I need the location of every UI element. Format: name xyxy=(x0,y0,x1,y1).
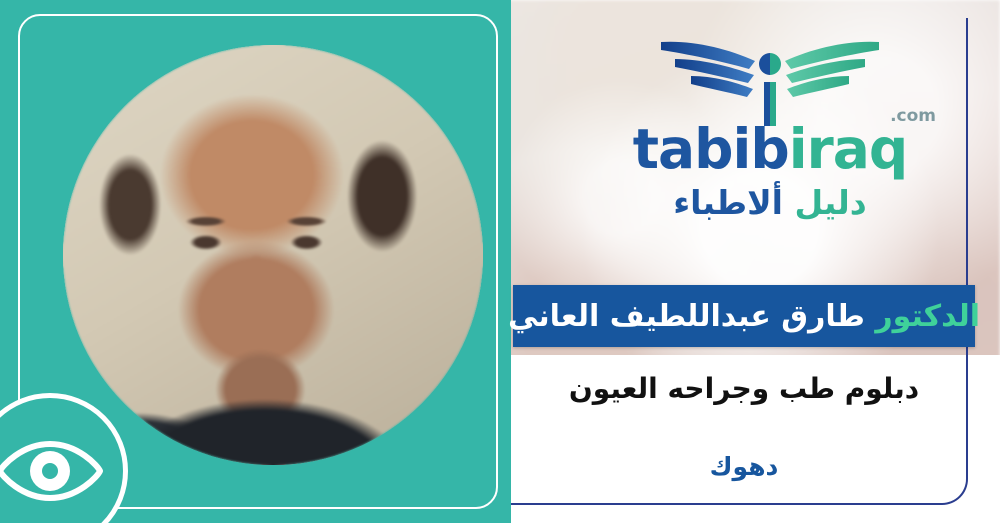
wordmark-iraq: iraq xyxy=(789,117,907,181)
doctor-city: دهوك xyxy=(513,452,975,481)
doctor-name-text: الدكتور طارق عبداللطيف العاني xyxy=(508,299,980,334)
doctor-profile-card: tabibiraq .com دليل ألاطباء الدكتور طارق… xyxy=(0,0,1000,523)
brand-logo: tabibiraq .com دليل ألاطباء xyxy=(600,28,940,222)
doctor-specialty: دبلوم طب وجراحه العيون xyxy=(513,372,975,405)
doctor-name-banner: الدكتور طارق عبداللطيف العاني xyxy=(513,285,975,347)
tagline-blue: ألاطباء xyxy=(673,183,783,222)
winged-caduceus-figure-icon xyxy=(600,28,940,126)
brand-tagline: دليل ألاطباء xyxy=(600,183,940,222)
doctor-photo xyxy=(63,45,483,465)
brand-wordmark: tabibiraq .com xyxy=(600,122,940,177)
doctor-title: الدكتور xyxy=(875,299,980,334)
wordmark-tld: .com xyxy=(890,108,936,125)
doctor-photo-overlay xyxy=(63,45,483,465)
doctor-name: طارق عبداللطيف العاني xyxy=(508,299,865,334)
wordmark-tabib: tabib xyxy=(633,117,789,181)
eye-icon xyxy=(0,440,104,502)
tagline-green: دليل xyxy=(794,183,866,222)
